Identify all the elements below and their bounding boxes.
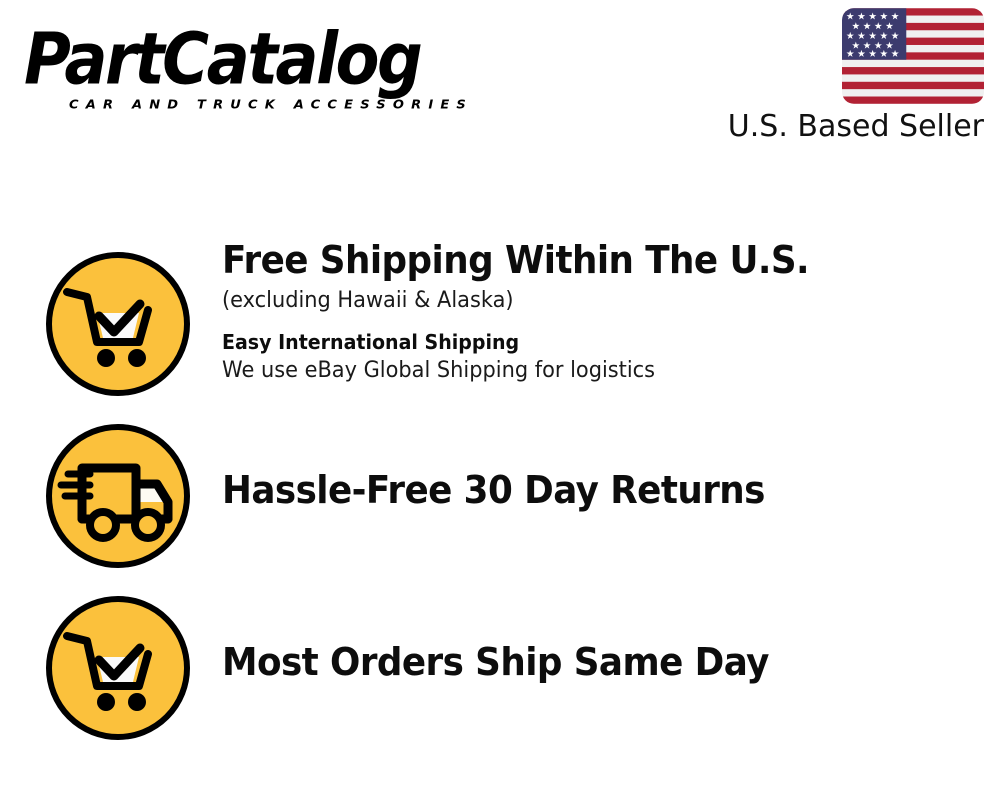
banner-header: PartCatalog CAR AND TRUCK ACCESSORIES — [0, 0, 1000, 170]
feature-subtitle: (excluding Hawaii & Alaska) — [222, 286, 944, 316]
feature-row-same-day-shipping: Most Orders Ship Same Day — [0, 576, 1000, 748]
feature-row-returns: Hassle-Free 30 Day Returns — [0, 404, 1000, 576]
feature-title: Most Orders Ship Same Day — [222, 640, 769, 684]
brand-logo[interactable]: PartCatalog CAR AND TRUCK ACCESSORIES — [24, 24, 494, 114]
feature-title: Free Shipping Within The U.S. — [222, 238, 936, 282]
feature-title: Hassle-Free 30 Day Returns — [222, 468, 765, 512]
feature-subtitle-strong: Easy International Shipping — [222, 328, 944, 356]
cart-check-icon — [44, 594, 192, 742]
brand-wordmark: PartCatalog — [24, 24, 494, 96]
us-flag-icon — [842, 8, 984, 104]
feature-row-free-shipping: Free Shipping Within The U.S. (excluding… — [0, 232, 1000, 404]
feature-text-block: Most Orders Ship Same Day — [222, 576, 982, 748]
delivery-truck-icon — [44, 422, 192, 570]
seller-badge-label: U.S. Based Seller — [724, 110, 984, 144]
feature-text-block: Free Shipping Within The U.S. (excluding… — [222, 238, 982, 386]
seller-badge: U.S. Based Seller — [724, 8, 984, 144]
feature-text-block: Hassle-Free 30 Day Returns — [222, 404, 982, 576]
feature-subtitle-secondary: We use eBay Global Shipping for logistic… — [222, 356, 944, 386]
brand-tagline: CAR AND TRUCK ACCESSORIES — [69, 98, 473, 112]
cart-check-icon — [44, 250, 192, 398]
feature-list: Free Shipping Within The U.S. (excluding… — [0, 232, 1000, 748]
